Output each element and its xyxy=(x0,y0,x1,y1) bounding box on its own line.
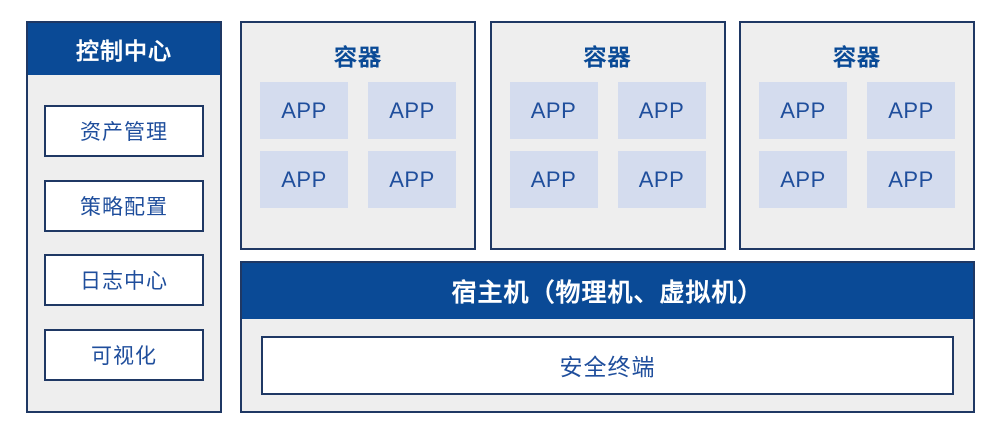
sidebar-item-label: 策略配置 xyxy=(80,191,168,221)
container-panel: 容器 APP APP APP APP xyxy=(739,21,975,250)
app-box: APP xyxy=(260,151,348,208)
app-grid: APP APP APP APP xyxy=(759,82,955,208)
sidebar-item-asset-management[interactable]: 资产管理 xyxy=(44,105,204,157)
app-box: APP xyxy=(368,82,456,139)
control-center-panel: 控制中心 资产管理 策略配置 日志中心 可视化 xyxy=(26,21,222,413)
sidebar-item-log-center[interactable]: 日志中心 xyxy=(44,254,204,306)
app-box: APP xyxy=(510,82,598,139)
app-box: APP xyxy=(618,151,706,208)
container-panel: 容器 APP APP APP APP xyxy=(240,21,476,250)
app-box: APP xyxy=(618,82,706,139)
app-box: APP xyxy=(759,82,847,139)
sidebar-item-visualization[interactable]: 可视化 xyxy=(44,329,204,381)
app-box: APP xyxy=(368,151,456,208)
container-title: 容器 xyxy=(833,38,881,72)
sidebar-item-policy-config[interactable]: 策略配置 xyxy=(44,180,204,232)
container-title: 容器 xyxy=(334,38,382,72)
containers-row: 容器 APP APP APP APP 容器 APP APP APP APP 容器… xyxy=(240,21,975,250)
app-box: APP xyxy=(260,82,348,139)
container-panel: 容器 APP APP APP APP xyxy=(490,21,726,250)
host-machine-body: 安全终端 xyxy=(242,319,973,411)
app-box: APP xyxy=(867,82,955,139)
app-grid: APP APP APP APP xyxy=(260,82,456,208)
security-terminal-box: 安全终端 xyxy=(261,336,954,395)
host-machine-panel: 宿主机（物理机、虚拟机） 安全终端 xyxy=(240,261,975,413)
app-box: APP xyxy=(759,151,847,208)
container-title: 容器 xyxy=(584,38,632,72)
app-grid: APP APP APP APP xyxy=(510,82,706,208)
sidebar-item-label: 日志中心 xyxy=(80,265,168,295)
app-box: APP xyxy=(510,151,598,208)
control-center-title: 控制中心 xyxy=(28,23,220,75)
app-box: APP xyxy=(867,151,955,208)
host-machine-title: 宿主机（物理机、虚拟机） xyxy=(242,263,973,319)
architecture-diagram: 控制中心 资产管理 策略配置 日志中心 可视化 容器 APP APP APP A… xyxy=(0,0,1001,437)
sidebar-item-label: 资产管理 xyxy=(80,116,168,146)
control-center-item-list: 资产管理 策略配置 日志中心 可视化 xyxy=(28,75,220,411)
sidebar-item-label: 可视化 xyxy=(91,340,157,370)
